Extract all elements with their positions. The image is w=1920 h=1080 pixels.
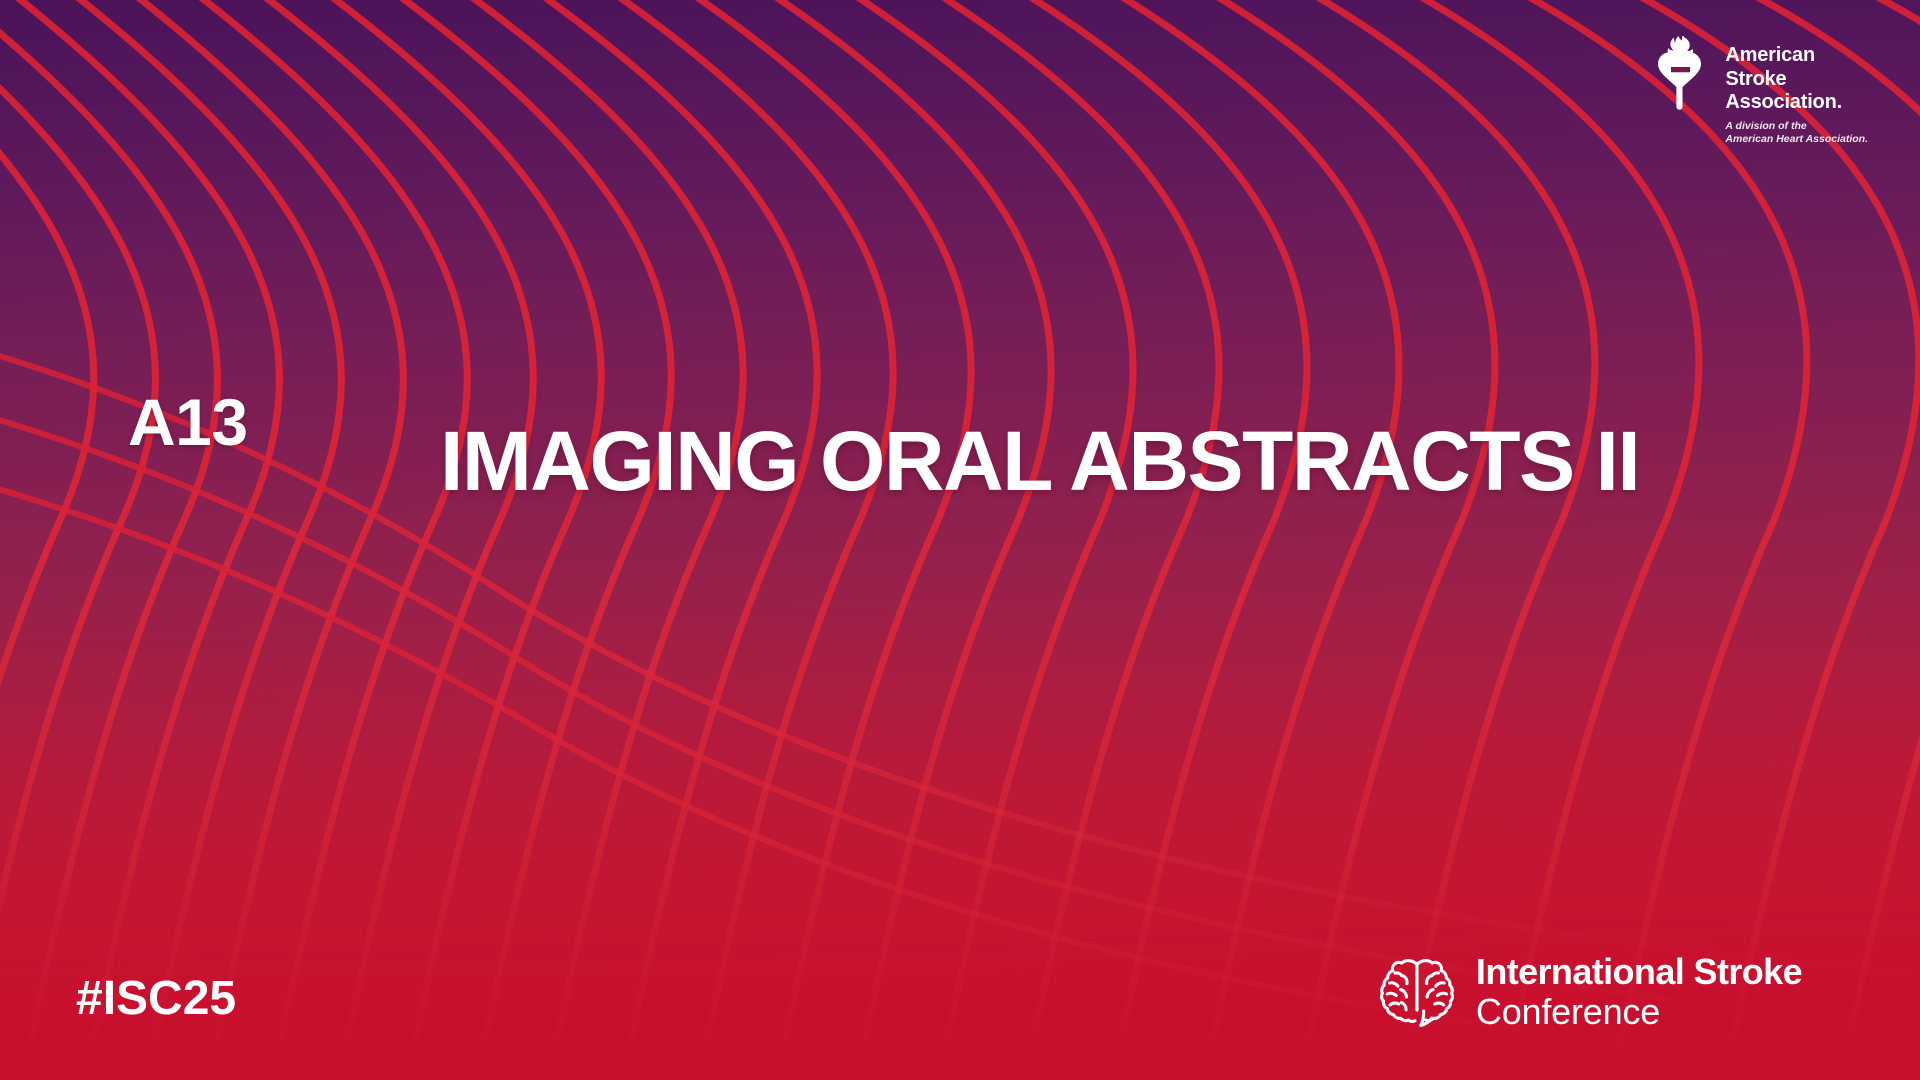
american-stroke-association-logo: American Stroke Association. A division … <box>1649 36 1868 146</box>
session-code: A13 <box>128 384 248 460</box>
asa-line-1: American <box>1725 44 1868 68</box>
isc-logo-text: International Stroke Conference <box>1476 953 1802 1030</box>
brain-icon <box>1376 956 1458 1028</box>
presentation-slide: American Stroke Association. A division … <box>0 0 1920 1080</box>
asa-logo-text: American Stroke Association. A division … <box>1725 36 1868 146</box>
asa-line-2: Stroke <box>1725 68 1868 92</box>
asa-sub-1: A division of the <box>1725 120 1868 133</box>
event-hashtag: #ISC25 <box>76 971 236 1026</box>
background-wave-pattern <box>0 0 1920 1080</box>
heart-torch-icon <box>1649 36 1711 118</box>
international-stroke-conference-logo: International Stroke Conference <box>1376 953 1802 1030</box>
isc-line-1: International Stroke <box>1476 953 1802 990</box>
isc-line-2: Conference <box>1476 993 1802 1030</box>
session-title: IMAGING ORAL ABSTRACTS II <box>440 413 1639 510</box>
asa-sub-2: American Heart Association. <box>1725 133 1868 146</box>
asa-line-3: Association. <box>1725 91 1868 115</box>
